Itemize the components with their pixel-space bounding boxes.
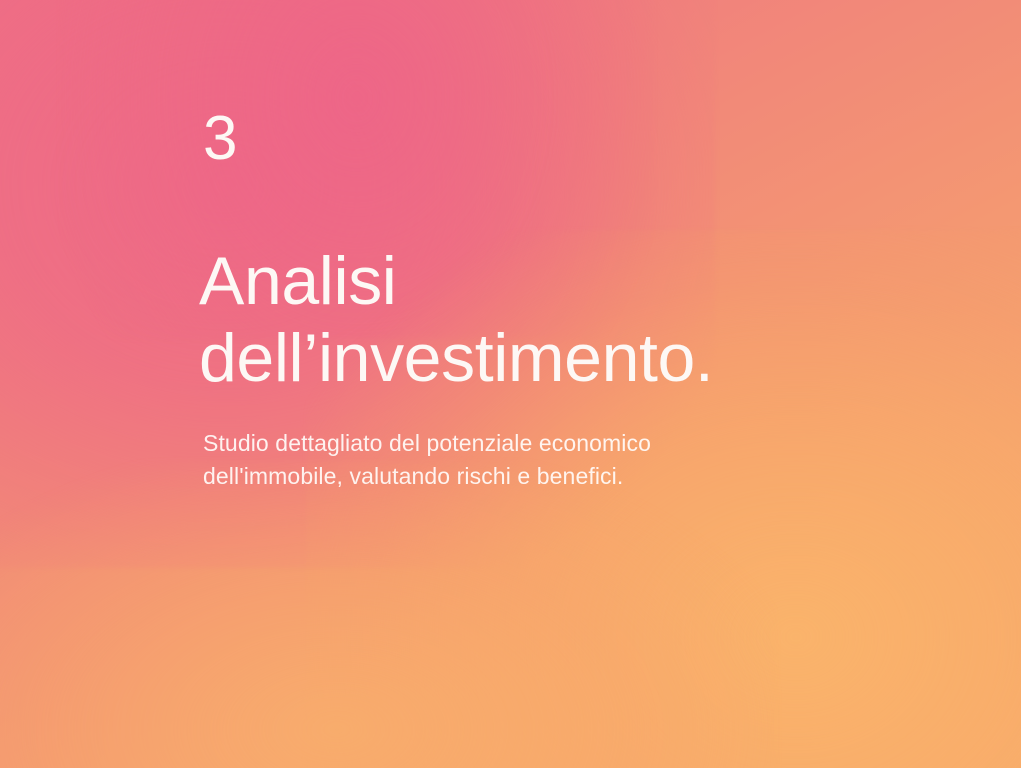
slide-heading: Analisi dell’investimento.: [199, 243, 713, 397]
slide-subtitle: Studio dettagliato del potenziale econom…: [203, 427, 651, 492]
section-number: 3: [203, 108, 238, 170]
title-slide: 3 Analisi dell’investimento. Studio dett…: [0, 0, 1021, 768]
slide-content: 3 Analisi dell’investimento. Studio dett…: [203, 0, 903, 768]
